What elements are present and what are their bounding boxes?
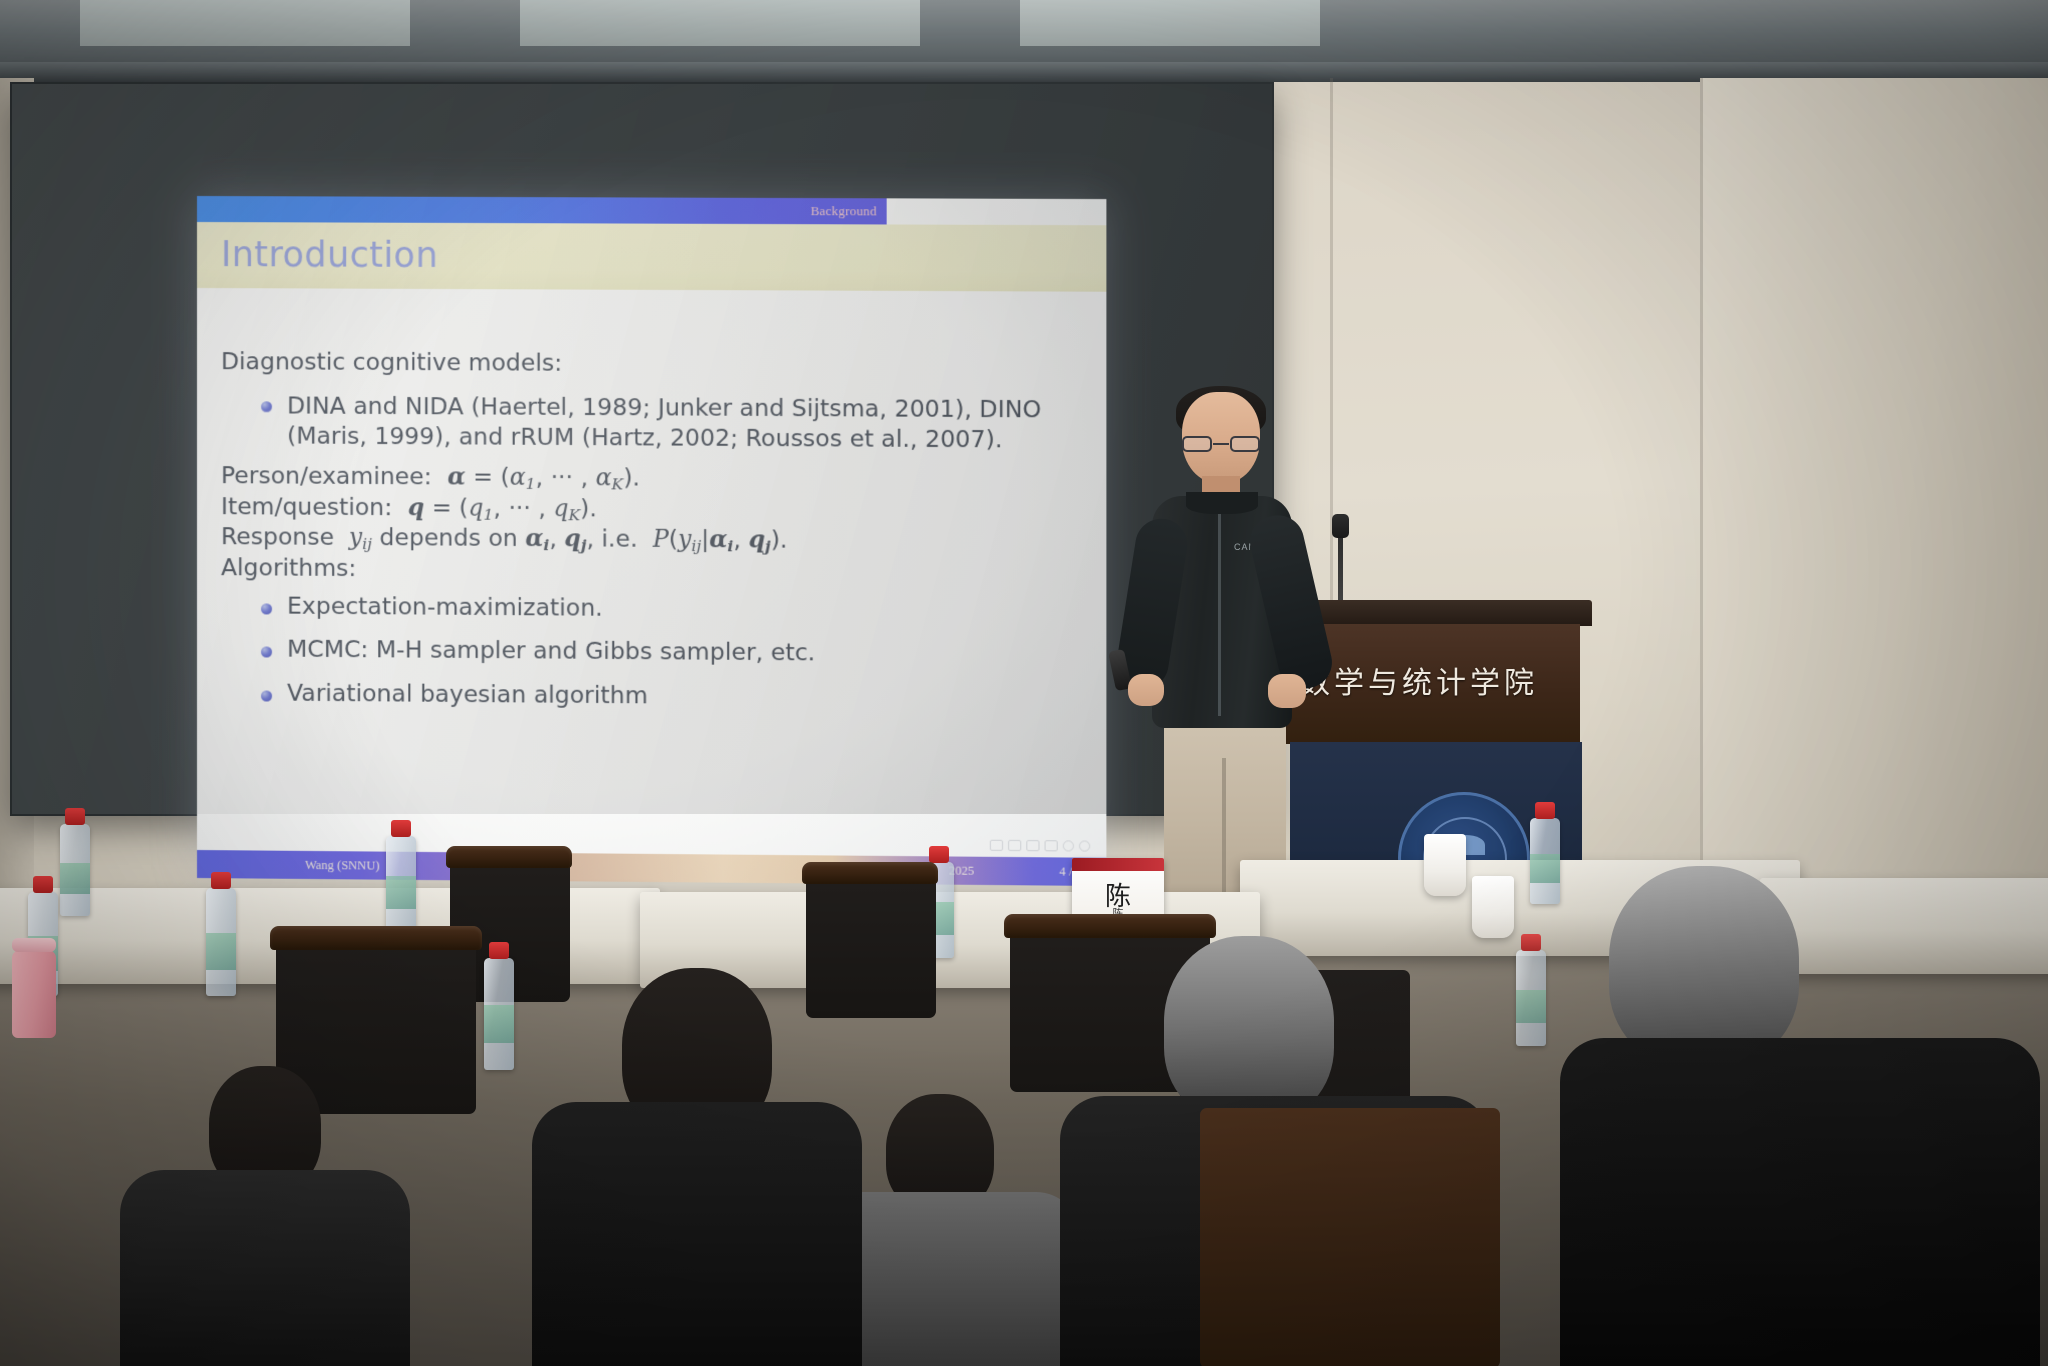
- person-label: Person/examinee:: [221, 461, 432, 490]
- audience-head: [1609, 866, 1799, 1066]
- chair: [802, 862, 938, 884]
- bottle-label: [386, 876, 416, 909]
- water-bottle: [386, 836, 416, 932]
- chair: [270, 926, 482, 950]
- list-item-label: DINA and NIDA (Haertel, 1989; Junker and…: [287, 391, 1041, 453]
- item-label: Item/question:: [221, 492, 392, 521]
- list-item-label: Expectation-maximization.: [287, 591, 603, 621]
- response-label: Response: [221, 522, 334, 551]
- paper-cup: [1424, 834, 1466, 896]
- bottle-cap: [489, 942, 509, 959]
- audience-member: [120, 1066, 410, 1366]
- slide-algorithms-label: Algorithms:: [221, 556, 1082, 585]
- chair-back: [1200, 1108, 1500, 1366]
- bottle-cap: [391, 820, 411, 837]
- bottle-cap: [929, 846, 949, 863]
- bottle-label: [1516, 990, 1546, 1023]
- response-ie: i.e.: [602, 525, 638, 553]
- audience-coat: [532, 1102, 862, 1366]
- list-item: Expectation-maximization.: [261, 594, 1082, 623]
- ceiling-light-panel: [80, 0, 410, 46]
- bottle-label: [60, 863, 90, 894]
- thermos-cap: [12, 938, 56, 952]
- lecture-room: Background Introduction Diagnostic cogni…: [0, 0, 2048, 1366]
- thermos-flask: [12, 950, 56, 1038]
- audience-member: [532, 946, 862, 1366]
- glasses-left-lens: [1182, 436, 1212, 452]
- water-bottle: [60, 824, 90, 916]
- slide-lead-text: Diagnostic cognitive models:: [221, 350, 1082, 378]
- slide-math-line-response: Response yij depends on αi, qj, i.e. P(y…: [221, 525, 1082, 557]
- bottle-label: [206, 933, 236, 970]
- slide-section-bar: Background: [197, 196, 887, 224]
- response-mid: depends on: [380, 523, 518, 552]
- list-item: DINA and NIDA (Haertel, 1989; Junker and…: [261, 390, 1082, 455]
- slide-section-label: Background: [811, 203, 887, 219]
- water-bottle: [1530, 818, 1560, 904]
- audience-coat: [1560, 1038, 2040, 1366]
- slide-bullet-list-top: DINA and NIDA (Haertel, 1989; Junker and…: [221, 390, 1082, 455]
- glasses-icon: [1182, 436, 1260, 452]
- bottle-cap: [211, 872, 231, 889]
- nameplate-header-bar: [1072, 858, 1164, 871]
- slide-title: Introduction: [197, 235, 438, 276]
- bottle-cap: [33, 876, 53, 893]
- water-bottle: [484, 958, 514, 1070]
- audience-foreground: 陈 陈: [0, 640, 2048, 1366]
- audience-head: [1164, 936, 1334, 1122]
- audience-coat: [120, 1170, 410, 1366]
- bottle-label: [1530, 854, 1560, 883]
- bullet-dot-icon: [261, 401, 272, 412]
- glasses-right-lens: [1230, 436, 1260, 452]
- bottle-cap: [65, 808, 85, 825]
- bullet-dot-icon: [261, 603, 272, 614]
- slide-title-band: Introduction: [197, 222, 1106, 292]
- glasses-bridge: [1213, 443, 1229, 445]
- bottle-cap: [1521, 934, 1541, 951]
- jacket-collar: [1186, 492, 1258, 514]
- audience-member: [1560, 866, 2040, 1366]
- paper-cup: [1472, 876, 1514, 938]
- slide-math-line-item: Item/question: q = (q1, ··· , qK).: [221, 495, 1082, 527]
- water-bottle: [1516, 950, 1546, 1046]
- water-bottle: [206, 888, 236, 996]
- ceiling-light-panel: [520, 0, 920, 46]
- ceiling-light-panel: [1020, 0, 1320, 46]
- chair: [1004, 914, 1216, 938]
- bottle-label: [484, 1005, 514, 1043]
- chair: [446, 846, 572, 868]
- slide-math-line-person: Person/examinee: α = (α1, ··· , αK).: [221, 464, 1082, 496]
- bottle-cap: [1535, 802, 1555, 819]
